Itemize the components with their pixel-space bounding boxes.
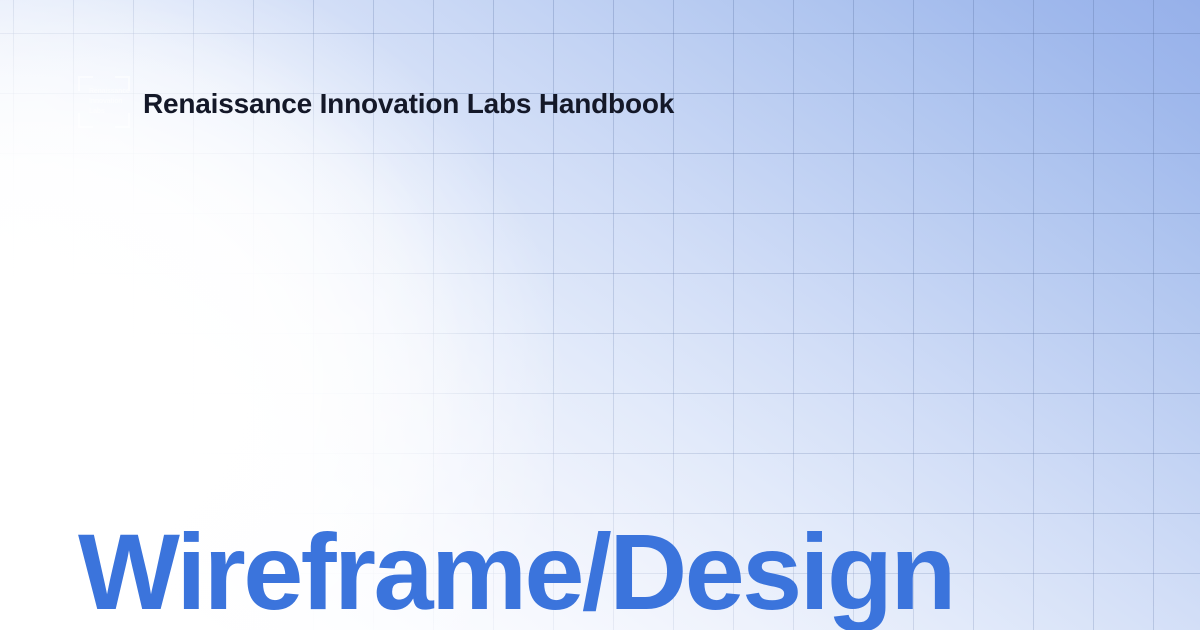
brand-watermark: Renaissance Innovation Labs [78,76,130,128]
brand-watermark-text: Renaissance Innovation Labs [89,88,125,116]
title-slide: Renaissance Innovation Labs Renaissance … [0,0,1200,630]
page-title: Wireframe/Design [78,512,954,630]
handbook-eyebrow-title: Renaissance Innovation Labs Handbook [143,84,674,124]
brand-watermark-line-3: Labs [89,108,125,116]
brand-watermark-line-1: Renaissance [89,88,125,96]
brand-watermark-line-2: Innovation [89,98,125,106]
